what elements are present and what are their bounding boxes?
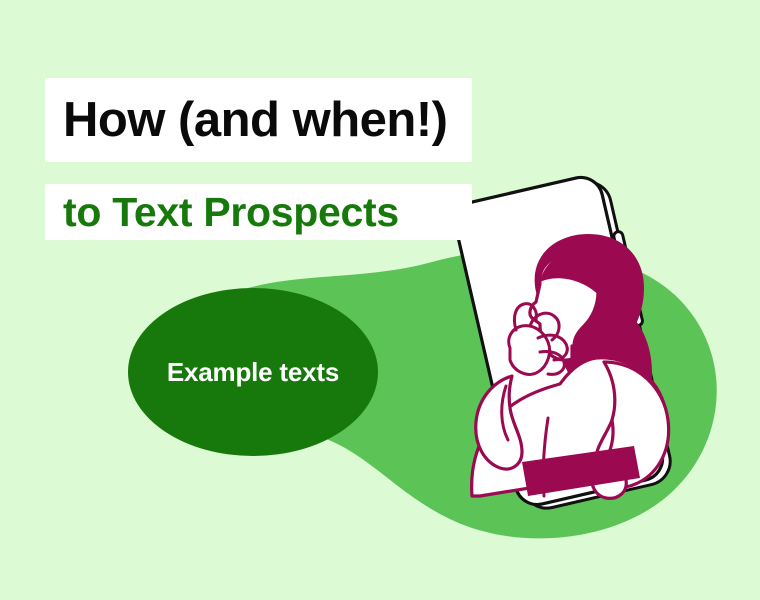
example-texts-badge-label: Example texts <box>167 357 339 388</box>
graphic-canvas: How (and when!) to Text Prospects Exampl… <box>0 0 760 600</box>
waving-hand-palm <box>509 326 550 375</box>
headline-line-1: How (and when!) <box>45 78 472 162</box>
example-texts-badge: Example texts <box>128 288 378 456</box>
headline-line-2: to Text Prospects <box>45 184 472 240</box>
headline-stack: How (and when!) to Text Prospects <box>45 78 472 240</box>
